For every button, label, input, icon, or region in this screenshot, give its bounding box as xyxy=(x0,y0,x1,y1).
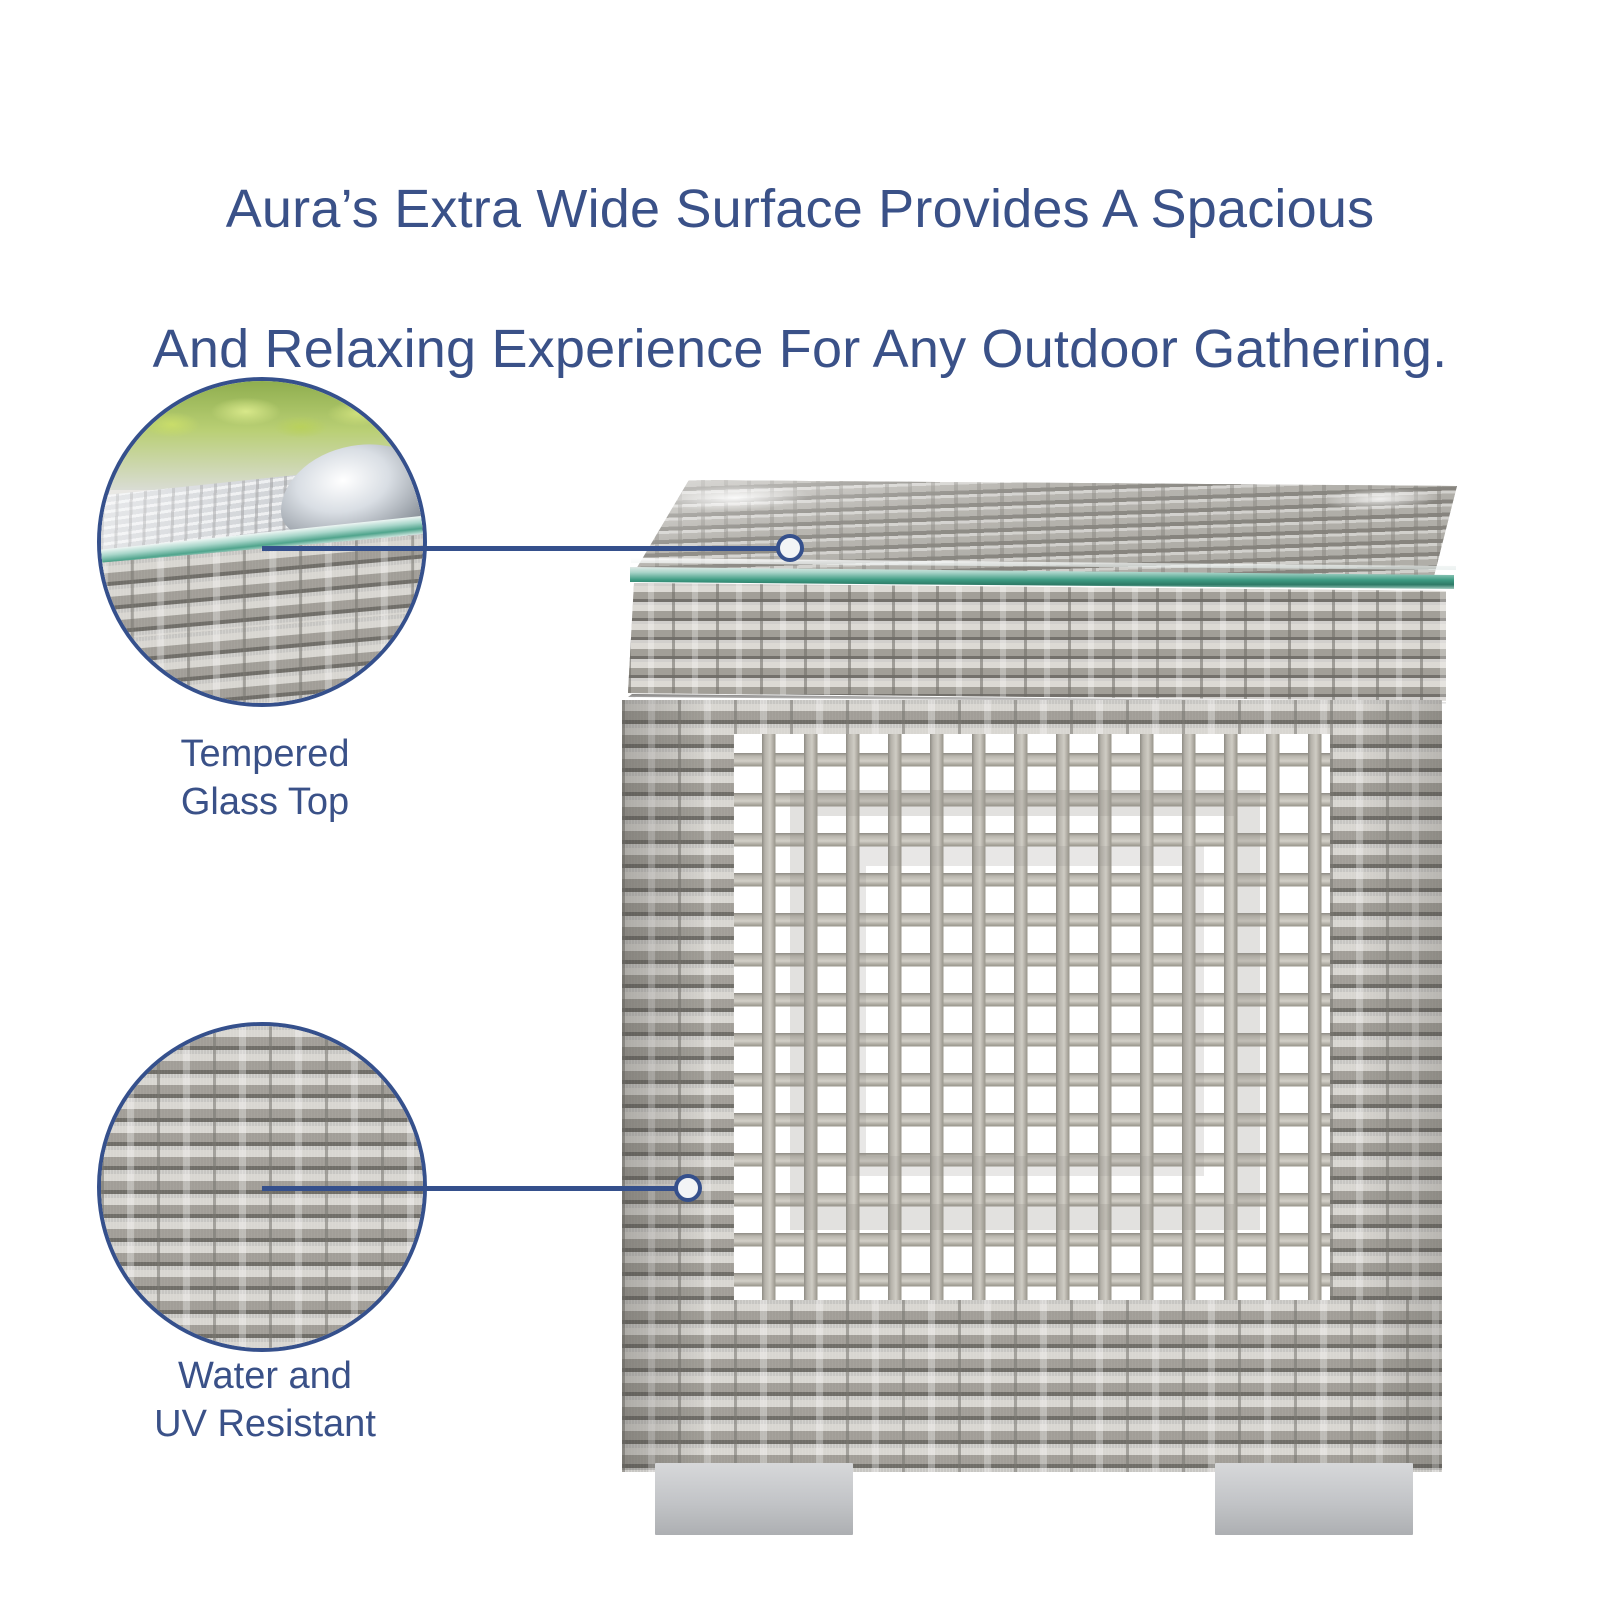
callout-circle-tempered-glass-top xyxy=(97,377,427,707)
wicker-texture-frame-bottom xyxy=(622,1300,1442,1472)
connector-line-tempered-glass-top xyxy=(262,546,792,551)
connector-dot-tempered-glass-top xyxy=(776,534,804,562)
wicker-texture-rail xyxy=(628,583,1446,701)
connector-line-water-uv-resistant xyxy=(262,1186,690,1191)
callout-label-water-uv-resistant: Water and UV Resistant xyxy=(40,1352,490,1448)
body-frame-top xyxy=(622,700,1442,734)
callout-label-tempered-glass-top: Tempered Glass Top xyxy=(40,730,490,826)
wicker-texture-frame-top xyxy=(622,700,1442,734)
body-frame-bottom xyxy=(622,1300,1442,1472)
glass-highlight xyxy=(660,482,811,513)
table-foot-right xyxy=(1215,1463,1413,1535)
table-top-rail xyxy=(628,583,1446,701)
table-foot-left xyxy=(655,1463,853,1535)
connector-dot-water-uv-resistant xyxy=(674,1174,702,1202)
glass-highlight-secondary xyxy=(1320,486,1441,512)
